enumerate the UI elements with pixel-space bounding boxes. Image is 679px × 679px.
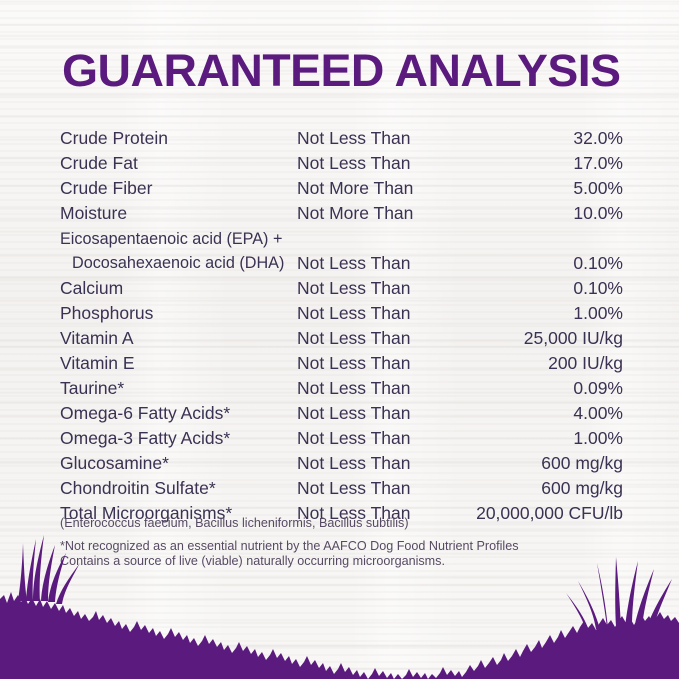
nutrient-name: Omega-3 Fatty Acids*	[60, 426, 230, 451]
nutrient-name: Vitamin A	[60, 326, 134, 351]
nutrient-name: Glucosamine*	[60, 451, 169, 476]
nutrient-name: Taurine*	[60, 376, 124, 401]
table-row: Crude Fiber Not More Than 5.00%	[60, 176, 623, 201]
nutrient-name-line1: Eicosapentaenoic acid (EPA) +	[60, 230, 282, 248]
guaranteed-analysis-panel: GUARANTEED ANALYSIS Crude Protein Not Le…	[0, 0, 679, 679]
nutrient-qualifier: Not Less Than	[297, 401, 411, 426]
nutrient-amount: 600 mg/kg	[541, 451, 623, 476]
grass-blades-left	[18, 535, 80, 604]
nutrient-amount: 17.0%	[573, 151, 623, 176]
table-row: Taurine* Not Less Than 0.09%	[60, 376, 623, 401]
table-row: Phosphorus Not Less Than 1.00%	[60, 301, 623, 326]
nutrient-qualifier: Not Less Than	[297, 451, 411, 476]
table-row: Glucosamine* Not Less Than 600 mg/kg	[60, 451, 623, 476]
nutrient-name: Crude Protein	[60, 126, 168, 151]
nutrient-qualifier: Not Less Than	[297, 301, 411, 326]
page-title: GUARANTEED ANALYSIS	[62, 45, 621, 97]
nutrient-qualifier: Not More Than	[297, 176, 413, 201]
guaranteed-analysis-table: Crude Protein Not Less Than 32.0% Crude …	[60, 126, 623, 526]
nutrient-name-line2: Docosahexaenoic acid (DHA)	[60, 251, 284, 275]
nutrient-amount: 0.10%	[573, 276, 623, 301]
table-row: Chondroitin Sulfate* Not Less Than 600 m…	[60, 476, 623, 501]
nutrient-name: Moisture	[60, 201, 127, 226]
nutrient-name: Crude Fiber	[60, 176, 152, 201]
nutrient-qualifier: Not Less Than	[297, 126, 411, 151]
nutrient-qualifier: Not Less Than	[297, 251, 411, 276]
nutrient-qualifier: Not Less Than	[297, 326, 411, 351]
nutrient-name: Chondroitin Sulfate*	[60, 476, 216, 501]
nutrient-name: Crude Fat	[60, 151, 138, 176]
nutrient-amount: 0.10%	[573, 251, 623, 276]
nutrient-amount: 0.09%	[573, 376, 623, 401]
nutrient-qualifier: Not Less Than	[297, 376, 411, 401]
nutrient-name: Vitamin E	[60, 351, 135, 376]
table-row: Calcium Not Less Than 0.10%	[60, 276, 623, 301]
table-row: Crude Protein Not Less Than 32.0%	[60, 126, 623, 151]
table-row: Crude Fat Not Less Than 17.0%	[60, 151, 623, 176]
nutrient-amount: 600 mg/kg	[541, 476, 623, 501]
nutrient-name: Calcium	[60, 276, 123, 301]
table-row: Vitamin A Not Less Than 25,000 IU/kg	[60, 326, 623, 351]
nutrient-amount: 4.00%	[573, 401, 623, 426]
nutrient-amount: 1.00%	[573, 426, 623, 451]
grass-ground-shape	[0, 592, 679, 679]
nutrient-amount: 25,000 IU/kg	[524, 326, 623, 351]
nutrient-qualifier: Not Less Than	[297, 426, 411, 451]
nutrient-qualifier: Not Less Than	[297, 351, 411, 376]
nutrient-name: Phosphorus	[60, 301, 153, 326]
nutrient-amount: 1.00%	[573, 301, 623, 326]
nutrient-name: Eicosapentaenoic acid (EPA) +Docosahexae…	[60, 227, 284, 275]
nutrient-amount: 10.0%	[573, 201, 623, 226]
table-row: Eicosapentaenoic acid (EPA) +Docosahexae…	[60, 226, 623, 276]
table-row: Omega-6 Fatty Acids* Not Less Than 4.00%	[60, 401, 623, 426]
nutrient-qualifier: Not More Than	[297, 201, 413, 226]
nutrient-qualifier: Not Less Than	[297, 276, 411, 301]
table-row: Omega-3 Fatty Acids* Not Less Than 1.00%	[60, 426, 623, 451]
nutrient-qualifier: Not Less Than	[297, 151, 411, 176]
nutrient-amount: 200 IU/kg	[548, 351, 623, 376]
nutrient-name: Omega-6 Fatty Acids*	[60, 401, 230, 426]
nutrient-amount: 32.0%	[573, 126, 623, 151]
nutrient-qualifier: Not Less Than	[297, 476, 411, 501]
table-row: Vitamin E Not Less Than 200 IU/kg	[60, 351, 623, 376]
table-row: Moisture Not More Than 10.0%	[60, 201, 623, 226]
grass-silhouette-decoration	[0, 529, 679, 679]
nutrient-amount: 5.00%	[573, 176, 623, 201]
